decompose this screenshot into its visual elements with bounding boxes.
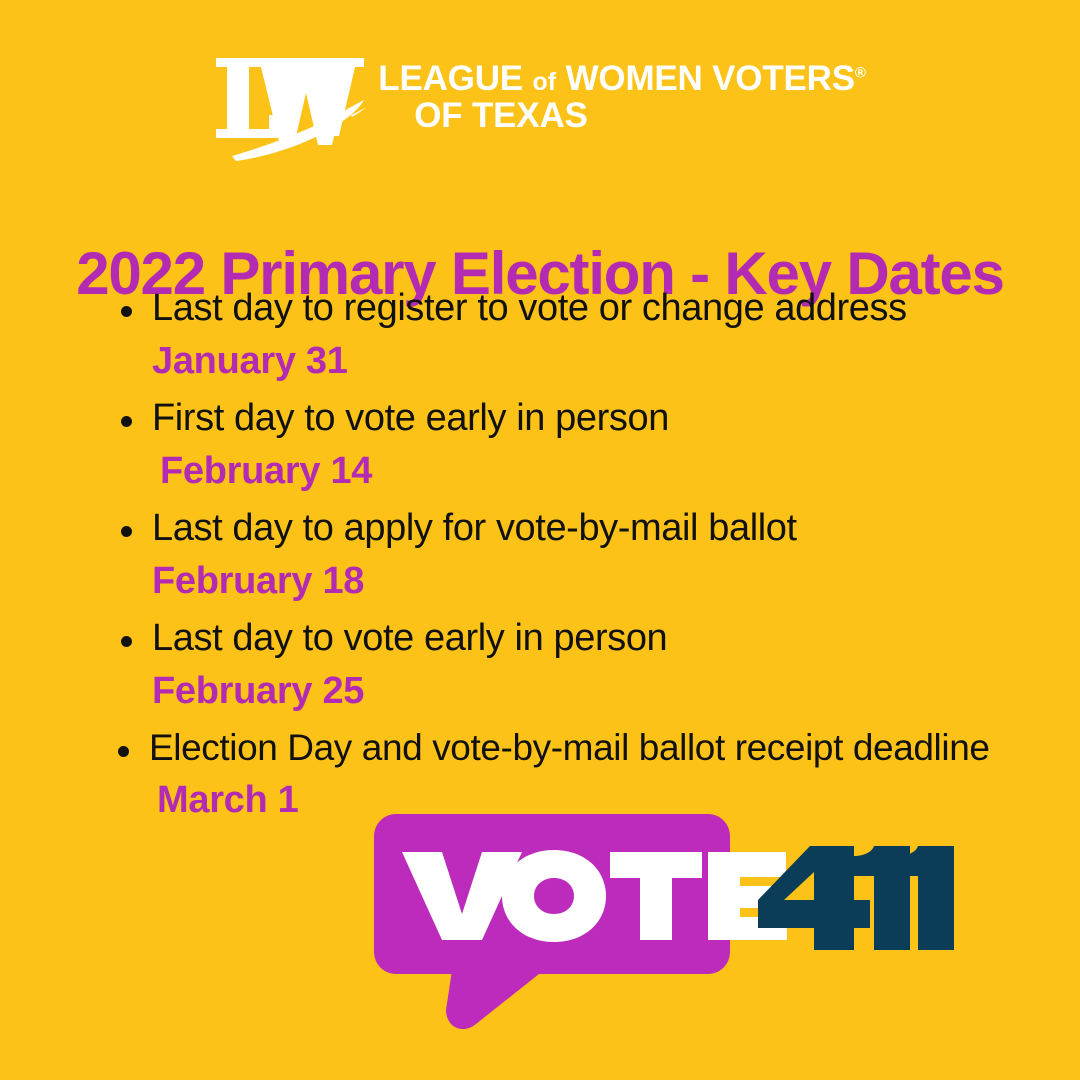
lwv-wordmark-line-2: OF TEXAS	[414, 99, 865, 133]
key-date-value: February 25	[0, 670, 1080, 713]
lwv-wordmark: LEAGUE of WOMEN VOTERS® OF TEXAS	[378, 52, 865, 134]
key-date-label-text: Last day to register to vote or change a…	[152, 287, 907, 329]
key-date-label-text: Last day to apply for vote-by-mail ballo…	[152, 507, 797, 549]
key-date-label-text: Election Day and vote-by-mail ballot rec…	[149, 727, 990, 768]
key-date-label: Last day to vote early in person	[0, 617, 1080, 660]
411-numerals	[758, 846, 954, 950]
bullet-icon	[121, 416, 132, 427]
lwv-word-league: LEAGUE	[378, 59, 523, 98]
list-item: Last day to apply for vote-by-mail ballo…	[0, 507, 1080, 602]
key-date-value: January 31	[0, 340, 1080, 383]
lwv-lockup: LEAGUE of WOMEN VOTERS® OF TEXAS	[214, 52, 865, 162]
registered-mark-icon: ®	[855, 64, 866, 81]
key-date-label-text: First day to vote early in person	[152, 397, 669, 439]
vote411-logo	[370, 810, 960, 1040]
list-item: Last day to vote early in person Februar…	[0, 617, 1080, 712]
key-date-label: Election Day and vote-by-mail ballot rec…	[0, 727, 1080, 768]
key-date-label: Last day to register to vote or change a…	[0, 287, 1080, 330]
key-dates-list: Last day to register to vote or change a…	[0, 287, 1080, 821]
key-date-value: February 14	[0, 450, 1080, 493]
key-date-label: Last day to apply for vote-by-mail ballo…	[0, 507, 1080, 550]
key-date-label-text: Last day to vote early in person	[152, 617, 667, 659]
lwv-word-women-voters: WOMEN VOTERS	[566, 59, 855, 98]
lwv-monogram-icon	[214, 52, 366, 162]
bullet-icon	[121, 526, 132, 537]
list-item: Last day to register to vote or change a…	[0, 287, 1080, 382]
lwv-header-logo: LEAGUE of WOMEN VOTERS® OF TEXAS	[0, 52, 1080, 172]
lwv-wordmark-line-1: LEAGUE of WOMEN VOTERS®	[378, 62, 865, 96]
bullet-icon	[121, 636, 132, 647]
key-date-label: First day to vote early in person	[0, 397, 1080, 440]
list-item: Election Day and vote-by-mail ballot rec…	[0, 727, 1080, 821]
lwv-word-of: of	[532, 68, 556, 96]
key-date-value: February 18	[0, 560, 1080, 603]
bullet-icon	[121, 306, 132, 317]
bullet-icon	[118, 746, 129, 757]
list-item: First day to vote early in person Februa…	[0, 397, 1080, 492]
